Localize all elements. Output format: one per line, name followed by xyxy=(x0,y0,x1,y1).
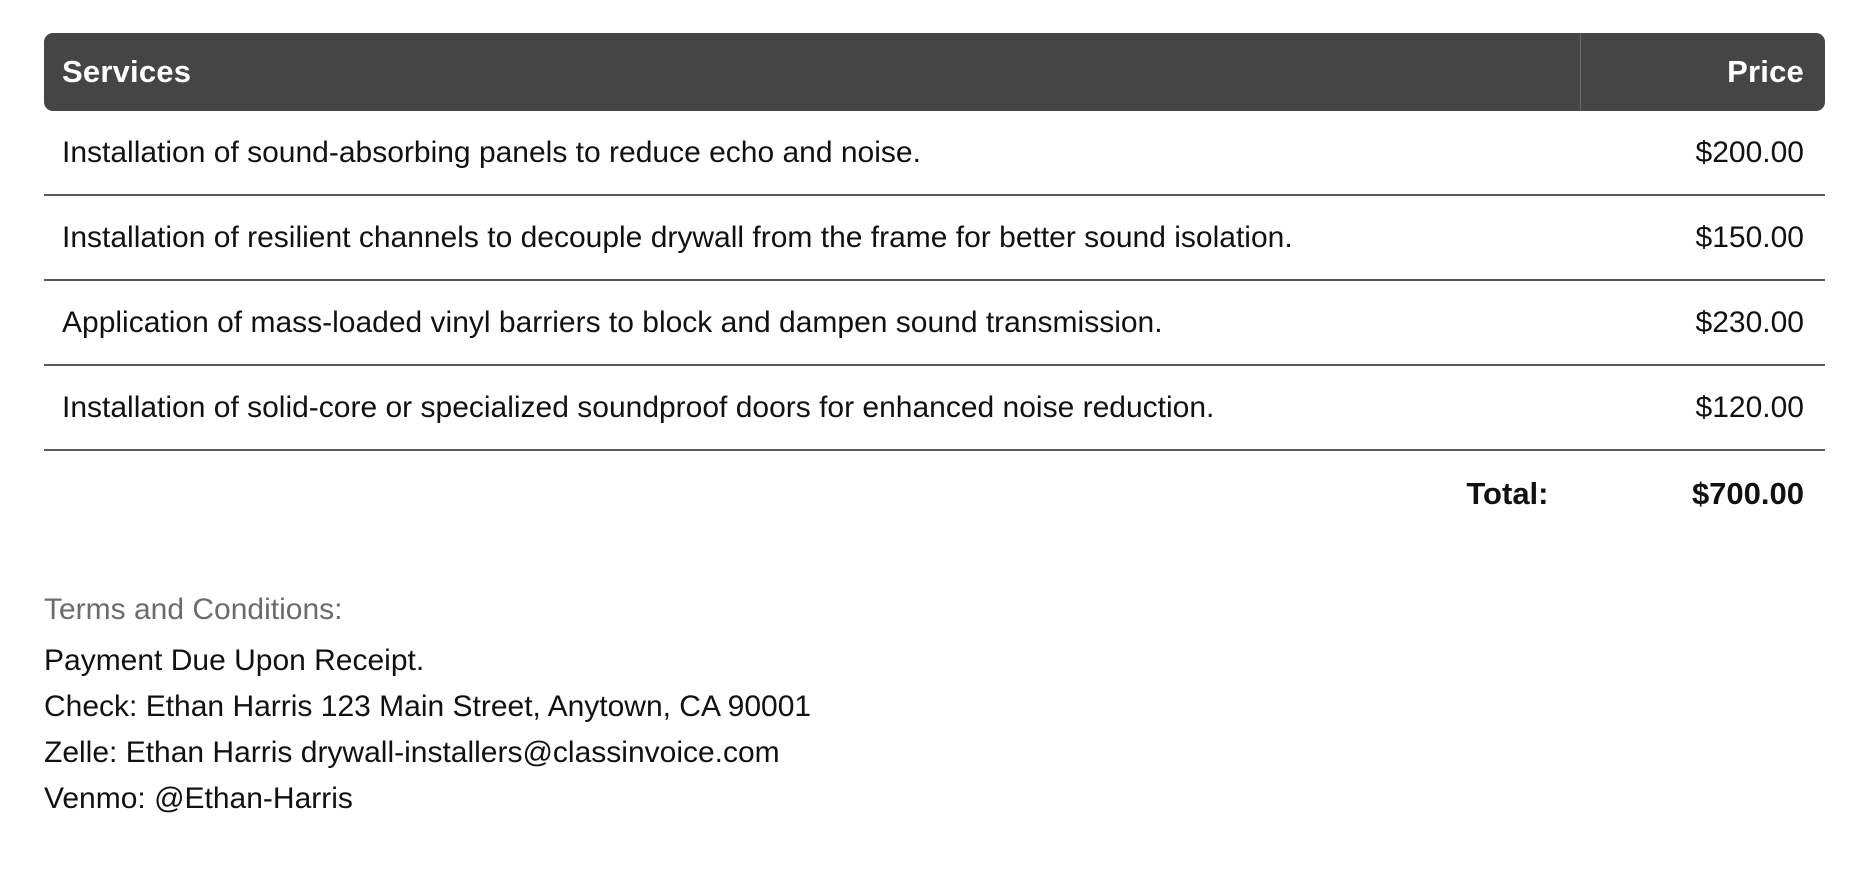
table-row: Installation of resilient channels to de… xyxy=(44,195,1825,280)
terms-and-conditions-block: Terms and Conditions: Payment Due Upon R… xyxy=(44,595,1825,814)
service-description: Application of mass-loaded vinyl barrier… xyxy=(44,280,1581,365)
table-row: Installation of sound-absorbing panels t… xyxy=(44,111,1825,195)
table-header: Services Price xyxy=(44,33,1825,111)
terms-line-payment-due: Payment Due Upon Receipt. xyxy=(44,646,1825,676)
service-description: Installation of resilient channels to de… xyxy=(44,195,1581,280)
service-price: $120.00 xyxy=(1581,365,1826,450)
total-amount: $700.00 xyxy=(1581,450,1826,537)
terms-heading: Terms and Conditions: xyxy=(44,595,1825,625)
invoice-sheet: Services Price Installation of sound-abs… xyxy=(0,0,1868,870)
service-price: $150.00 xyxy=(1581,195,1826,280)
terms-line-check: Check: Ethan Harris 123 Main Street, Any… xyxy=(44,692,1825,722)
column-header-price: Price xyxy=(1581,33,1826,111)
table-row: Installation of solid-core or specialize… xyxy=(44,365,1825,450)
table-row: Application of mass-loaded vinyl barrier… xyxy=(44,280,1825,365)
terms-line-venmo: Venmo: @Ethan-Harris xyxy=(44,784,1825,814)
services-price-table: Services Price Installation of sound-abs… xyxy=(44,33,1825,537)
table-header-row: Services Price xyxy=(44,33,1825,111)
total-row: Total: $700.00 xyxy=(44,450,1825,537)
terms-line-zelle: Zelle: Ethan Harris drywall-installers@c… xyxy=(44,738,1825,768)
service-price: $230.00 xyxy=(1581,280,1826,365)
service-description: Installation of sound-absorbing panels t… xyxy=(44,111,1581,195)
column-header-services: Services xyxy=(44,33,1581,111)
total-label: Total: xyxy=(44,450,1581,537)
service-price: $200.00 xyxy=(1581,111,1826,195)
service-description: Installation of solid-core or specialize… xyxy=(44,365,1581,450)
table-body: Installation of sound-absorbing panels t… xyxy=(44,111,1825,537)
